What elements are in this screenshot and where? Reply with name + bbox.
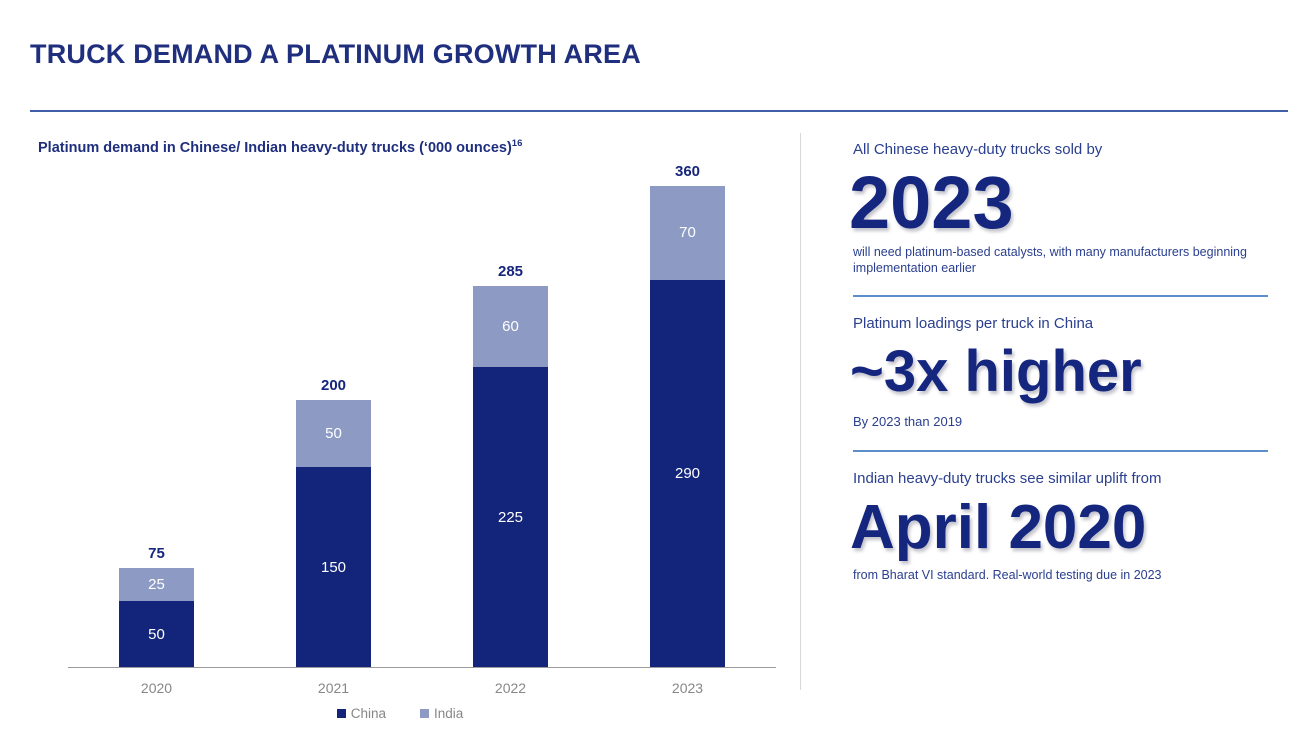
x-axis-tick-label: 2022 [473, 680, 548, 696]
chart-plot-area: 7525502020200501502021285602252022360702… [68, 158, 776, 668]
bar-segment-china[interactable]: 150 [296, 467, 371, 668]
highlight-sub-text: from Bharat VI standard. Real-world test… [853, 567, 1288, 584]
bar-group[interactable]: 285602252022 [473, 286, 548, 668]
x-axis-tick-label: 2020 [119, 680, 194, 696]
legend-label: India [434, 706, 463, 721]
bar-group[interactable]: 360702902023 [650, 186, 725, 668]
legend-swatch-icon [420, 709, 429, 718]
bar-segment-china[interactable]: 50 [119, 601, 194, 668]
x-axis-line [68, 667, 776, 668]
bar-total-label: 285 [473, 263, 548, 280]
highlight-headline: April 2020 [850, 497, 1288, 559]
panel-divider [800, 133, 801, 690]
legend-label: China [351, 706, 386, 721]
bar-segment-value: 150 [321, 560, 346, 575]
chart-title-footnote-marker: 16 [512, 138, 523, 149]
legend-item[interactable]: China [337, 706, 386, 721]
highlight-headline: 2023 [849, 166, 1288, 240]
bar-segment-value: 60 [502, 319, 519, 334]
x-axis-tick-label: 2021 [296, 680, 371, 696]
highlight-block: All Chinese heavy-duty trucks sold by202… [853, 140, 1288, 297]
bar-total-label: 360 [650, 163, 725, 180]
legend-item[interactable]: India [420, 706, 463, 721]
highlight-lead-text: Platinum loadings per truck in China [853, 314, 1288, 334]
page-title: TRUCK DEMAND A PLATINUM GROWTH AREA [30, 39, 641, 70]
bar-segment-value: 50 [325, 426, 342, 441]
bar-total-label: 75 [119, 545, 194, 562]
highlight-block: Platinum loadings per truck in China~3x … [853, 314, 1288, 453]
bar-segment-value: 70 [679, 225, 696, 240]
highlight-divider [853, 450, 1268, 452]
bar-group[interactable]: 7525502020 [119, 568, 194, 668]
bar-segment-china[interactable]: 290 [650, 280, 725, 668]
bar-segment-china[interactable]: 225 [473, 367, 548, 668]
highlight-sub-text: will need platinum-based catalysts, with… [853, 244, 1288, 277]
slide: TRUCK DEMAND A PLATINUM GROWTH AREA Plat… [0, 0, 1304, 755]
highlight-divider [853, 295, 1268, 297]
bar-total-label: 200 [296, 377, 371, 394]
bar-segment-value: 50 [148, 627, 165, 642]
highlights-panel: All Chinese heavy-duty trucks sold by202… [853, 140, 1288, 583]
bar-segment-india[interactable]: 50 [296, 400, 371, 467]
bar-segment-value: 25 [148, 577, 165, 592]
bar-segment-india[interactable]: 70 [650, 186, 725, 280]
highlight-block: Indian heavy-duty trucks see similar upl… [853, 469, 1288, 583]
bar-segment-value: 290 [675, 466, 700, 481]
bar-segment-value: 225 [498, 510, 523, 525]
bar-segment-india[interactable]: 25 [119, 568, 194, 601]
chart-panel: Platinum demand in Chinese/ Indian heavy… [0, 128, 800, 748]
chart-legend: ChinaIndia [0, 706, 800, 721]
highlight-lead-text: All Chinese heavy-duty trucks sold by [853, 140, 1288, 160]
x-axis-tick-label: 2023 [650, 680, 725, 696]
chart-title-text: Platinum demand in Chinese/ Indian heavy… [38, 140, 512, 156]
chart-title: Platinum demand in Chinese/ Indian heavy… [38, 138, 522, 156]
bar-group[interactable]: 200501502021 [296, 400, 371, 668]
highlight-sub-text: By 2023 than 2019 [853, 413, 1288, 430]
highlight-headline: ~3x higher [850, 343, 1288, 401]
legend-swatch-icon [337, 709, 346, 718]
bar-segment-india[interactable]: 60 [473, 286, 548, 366]
title-divider [30, 110, 1288, 112]
highlight-lead-text: Indian heavy-duty trucks see similar upl… [853, 469, 1288, 489]
